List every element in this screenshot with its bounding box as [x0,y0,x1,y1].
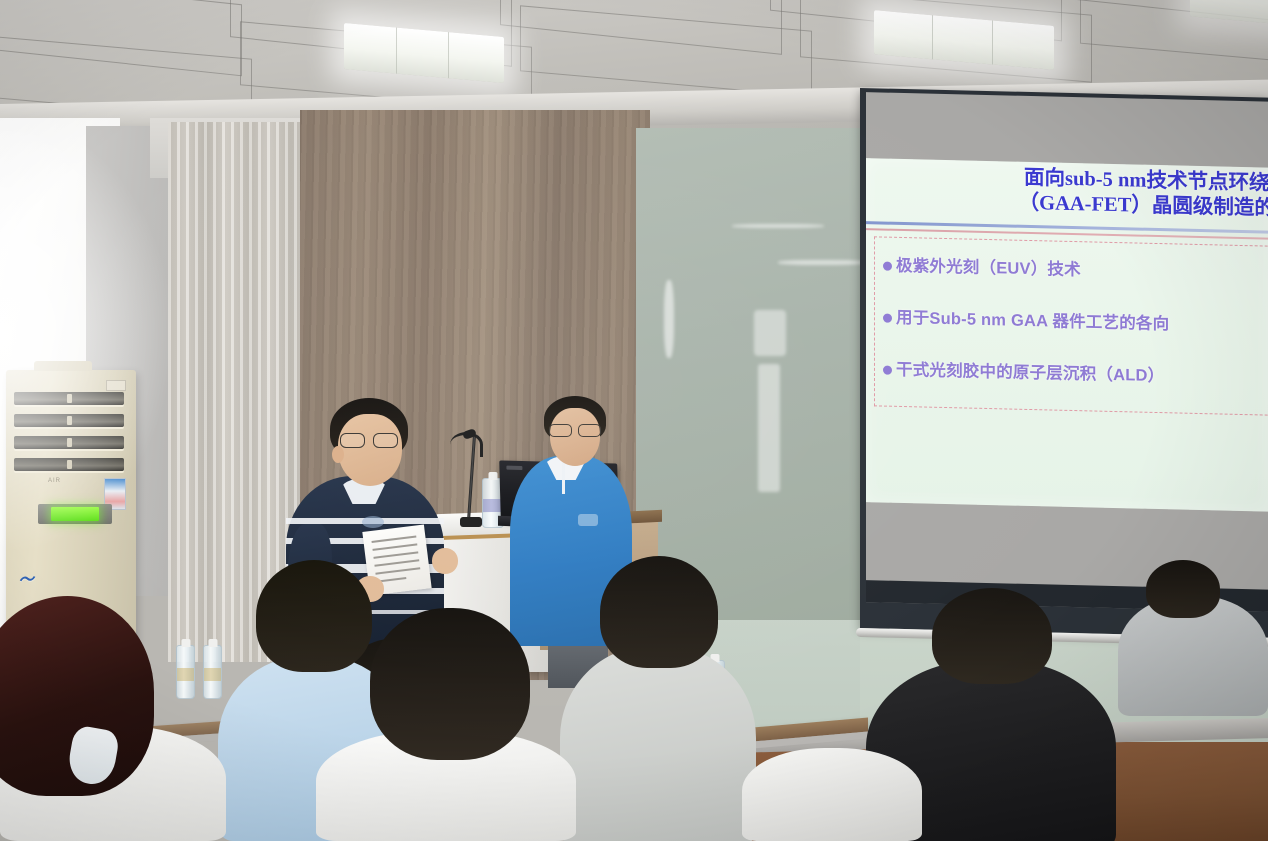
polo-placket [562,462,565,494]
ac-logo-icon: ～ [16,565,35,591]
water-bottle [176,645,195,699]
eyeglasses-icon [549,424,601,436]
polo-logo-icon [362,516,384,528]
slide-bullet-3: 干式光刻胶中的原子层沉积（ALD） [883,356,1164,387]
presenter-primary-ear [332,446,344,463]
microphone-base [460,517,482,527]
ac-louver [14,436,124,449]
bullet-dot-icon [883,262,892,271]
presenter-primary-face [338,414,402,486]
attendee-gray-shirt [560,646,756,841]
attendee-white-tshirt [742,748,922,841]
ac-label-sticker [106,380,126,391]
slide-bullet-2: 用于Sub-5 nm GAA 器件工艺的各向 [883,304,1169,335]
presentation-slide: 面向sub-5 nm技术节点环绕式 （GAA-FET）晶圆级制造的关 极紫外光刻… [866,158,1268,511]
slide-bullet-box: 极紫外光刻（EUV）技术 用于Sub-5 nm GAA 器件工艺的各向 干式光刻… [874,236,1268,420]
ac-louver [14,392,124,405]
attendee-gray-shirt-hair [600,556,718,668]
eyeglasses-icon [340,433,398,447]
attendee-back-row-hair [1146,560,1220,618]
bullet-dot-icon [883,366,892,375]
attendee-white-tshirt-hair [370,608,530,760]
ac-brand-text: AIR [48,478,61,484]
lecture-room-photo: 面向sub-5 nm技术节点环绕式 （GAA-FET）晶圆级制造的关 极紫外光刻… [0,0,1268,841]
bullet-dot-icon [883,314,892,323]
title-divider [866,221,1268,233]
screen-surface: 面向sub-5 nm技术节点环绕式 （GAA-FET）晶圆级制造的关 极紫外光刻… [866,92,1268,611]
slide-title: 面向sub-5 nm技术节点环绕式 （GAA-FET）晶圆级制造的关 [876,162,1268,225]
presenter-secondary-face [550,408,600,466]
attendee-black-tshirt-hair [932,588,1052,684]
projection-screen: 面向sub-5 nm技术节点环绕式 （GAA-FET）晶圆级制造的关 极紫外光刻… [860,88,1268,638]
attendee-lightblue-shirt-hair [256,560,372,672]
ac-top-cap [34,361,92,371]
ac-display-panel[interactable] [38,504,112,524]
presenter-primary-hand [432,548,458,574]
polo-logo-icon [578,514,598,526]
slide-bullet-1: 极紫外光刻（EUV）技术 [883,252,1081,281]
water-bottle [203,645,222,699]
ac-louver [14,414,124,427]
ac-louver [14,458,124,471]
